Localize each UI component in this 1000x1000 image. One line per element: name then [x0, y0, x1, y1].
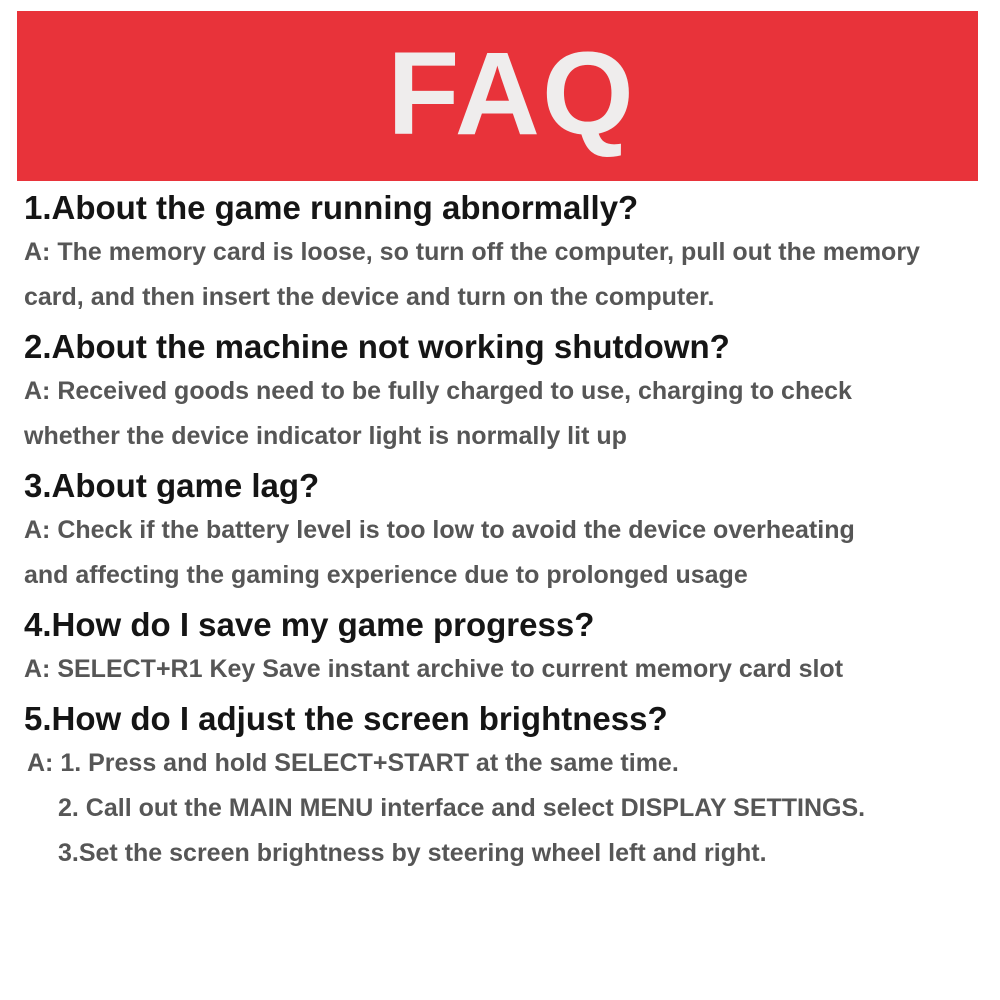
faq-answer-4: A: SELECT+R1 Key Save instant archive to…	[0, 647, 1000, 692]
faq-answer-3: A: Check if the battery level is too low…	[0, 508, 1000, 598]
faq-answer-2-line-2: whether the device indicator light is no…	[0, 414, 1000, 459]
faq-answer-5: A: 1. Press and hold SELECT+START at the…	[0, 741, 1000, 876]
faq-answer-5-line-1: A: 1. Press and hold SELECT+START at the…	[0, 741, 1000, 786]
faq-answer-4-line-1: A: SELECT+R1 Key Save instant archive to…	[0, 647, 1000, 692]
faq-banner: FAQ	[17, 11, 978, 181]
faq-answer-1: A: The memory card is loose, so turn off…	[0, 230, 1000, 320]
faq-item-2: 2.About the machine not working shutdown…	[0, 320, 1000, 459]
faq-answer-5-line-2: 2. Call out the MAIN MENU interface and …	[0, 786, 1000, 831]
faq-question-1: 1.About the game running abnormally?	[0, 181, 1000, 230]
faq-page: FAQ 1.About the game running abnormally?…	[0, 0, 1000, 1000]
faq-list: 1.About the game running abnormally? A: …	[0, 181, 1000, 876]
faq-item-3: 3.About game lag? A: Check if the batter…	[0, 459, 1000, 598]
faq-item-5: 5.How do I adjust the screen brightness?…	[0, 692, 1000, 876]
faq-answer-2-line-1: A: Received goods need to be fully charg…	[0, 369, 1000, 414]
faq-answer-1-line-2: card, and then insert the device and tur…	[0, 275, 1000, 320]
faq-question-5: 5.How do I adjust the screen brightness?	[0, 692, 1000, 741]
faq-question-4: 4.How do I save my game progress?	[0, 598, 1000, 647]
faq-question-2: 2.About the machine not working shutdown…	[0, 320, 1000, 369]
faq-item-1: 1.About the game running abnormally? A: …	[0, 181, 1000, 320]
faq-answer-3-line-2: and affecting the gaming experience due …	[0, 553, 1000, 598]
faq-answer-5-line-3: 3.Set the screen brightness by steering …	[0, 831, 1000, 876]
faq-answer-2: A: Received goods need to be fully charg…	[0, 369, 1000, 459]
faq-answer-3-line-1: A: Check if the battery level is too low…	[0, 508, 1000, 553]
faq-question-3: 3.About game lag?	[0, 459, 1000, 508]
faq-item-4: 4.How do I save my game progress? A: SEL…	[0, 598, 1000, 692]
faq-answer-1-line-1: A: The memory card is loose, so turn off…	[0, 230, 1000, 275]
page-title: FAQ	[359, 35, 636, 157]
